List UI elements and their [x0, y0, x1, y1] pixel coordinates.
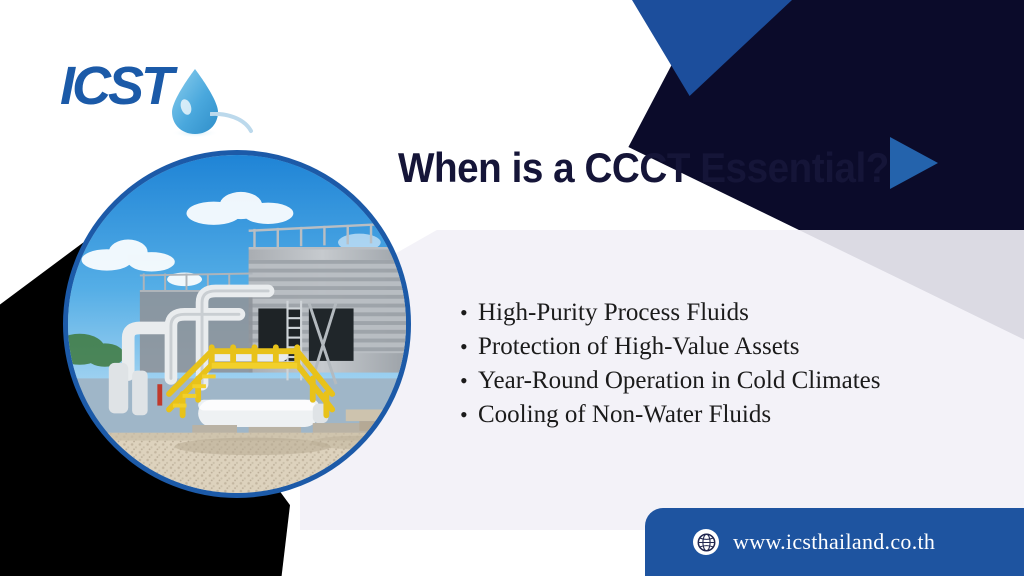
list-item: • High-Purity Process Fluids	[460, 296, 880, 330]
page-title: When is a CCCT Essential?	[398, 144, 950, 192]
footer-website-bar: www.icsthailand.co.th	[645, 508, 1024, 576]
website-url[interactable]: www.icsthailand.co.th	[733, 529, 935, 555]
logo-wordmark: ICST	[60, 59, 171, 113]
bullet-marker-icon: •	[460, 404, 478, 426]
list-item: • Year-Round Operation in Cold Climates	[460, 364, 880, 398]
bullet-marker-icon: •	[460, 302, 478, 324]
industrial-cooling-tower-photo	[63, 150, 411, 498]
list-item-label: Protection of High-Value Assets	[478, 330, 799, 364]
slide-canvas: ICST	[0, 0, 1024, 576]
list-item-label: Cooling of Non-Water Fluids	[478, 398, 771, 432]
list-item: • Cooling of Non-Water Fluids	[460, 398, 880, 432]
list-item: • Protection of High-Value Assets	[460, 330, 880, 364]
brand-logo: ICST	[60, 57, 240, 137]
feature-bullet-list: • High-Purity Process Fluids • Protectio…	[460, 296, 880, 432]
logo-swoosh-icon	[210, 112, 254, 139]
bullet-marker-icon: •	[460, 336, 478, 358]
list-item-label: High-Purity Process Fluids	[478, 296, 749, 330]
list-item-label: Year-Round Operation in Cold Climates	[478, 364, 880, 398]
globe-icon	[693, 529, 719, 555]
bullet-marker-icon: •	[460, 370, 478, 392]
